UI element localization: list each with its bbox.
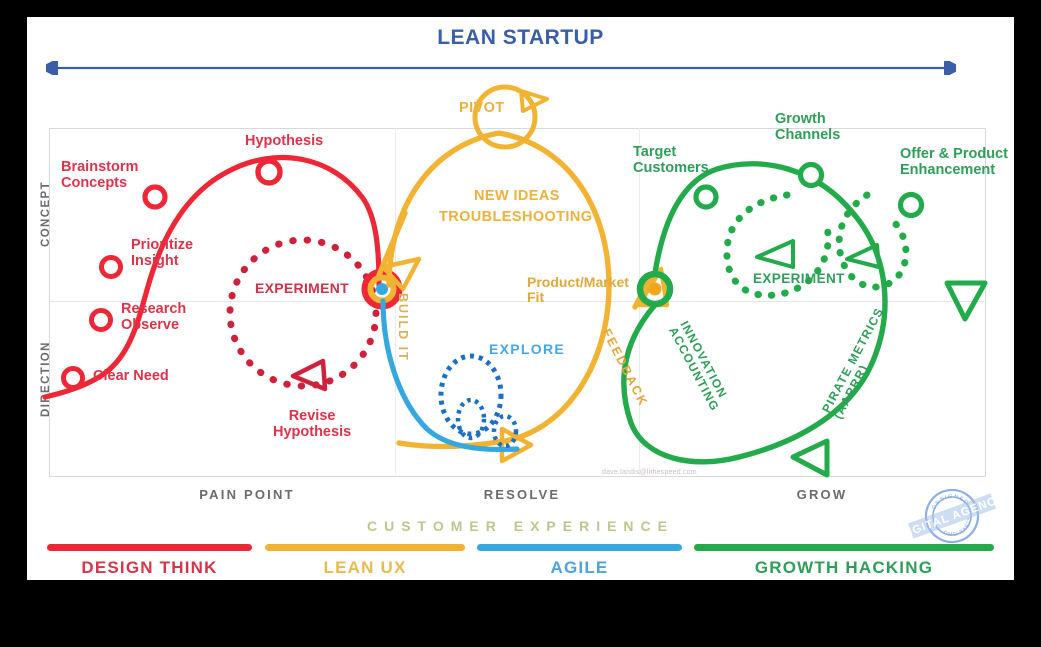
legend-label-agile: AGILE	[477, 558, 682, 578]
label-product-market-fit: Product/Market Fit	[527, 275, 629, 305]
customer-experience-label: CUSTOMER EXPERIENCE	[27, 518, 1014, 534]
phase-label-resolve: RESOLVE	[412, 487, 632, 502]
legend-label-design-think: DESIGN THINK	[47, 558, 252, 578]
diagram-canvas: LEAN STARTUP CONCEPT DIRECTION	[27, 17, 1014, 580]
digital-agency-stamp: DESIGNED BY OMD PARIS DIGITAL AGENCY	[900, 484, 1004, 548]
label-experiment-growth: EXPERIMENT	[753, 272, 845, 287]
node-label-brainstorm-concepts: Brainstorm Concepts	[61, 160, 138, 191]
image-frame: LEAN STARTUP CONCEPT DIRECTION	[0, 0, 1041, 647]
label-revise-hypothesis: Revise Hypothesis	[273, 409, 351, 440]
node-label-target-customers: Target Customers	[633, 145, 709, 176]
phase-label-grow: GROW	[712, 487, 932, 502]
label-experiment-design-think: EXPERIMENT	[255, 281, 349, 296]
legend-label-growth-hacking: GROWTH HACKING	[694, 558, 994, 578]
legend-bar-design-think	[47, 544, 252, 551]
label-troubleshooting: TROUBLESHOOTING	[439, 210, 592, 226]
label-build-it: BUILD IT	[396, 293, 410, 362]
label-new-ideas: NEW IDEAS	[474, 189, 560, 205]
growth-hacking-arc	[624, 164, 985, 475]
node-label-growth-channels: Growth Channels	[775, 112, 840, 143]
legend-bar-lean-ux	[265, 544, 465, 551]
node-label-prioritize-insight: Prioritize Insight	[131, 238, 193, 269]
node-label-clear-need: Clear Need	[93, 369, 169, 385]
label-explore: EXPLORE	[489, 342, 565, 357]
design-think-arc	[45, 157, 379, 397]
node-label-offer-product-enhancement: Offer & Product Enhancement	[900, 147, 1008, 178]
label-pivot: PIVOT	[459, 101, 505, 117]
node-label-research-observe: Research Observe	[121, 302, 186, 333]
node-label-hypothesis: Hypothesis	[245, 134, 323, 150]
legend-label-lean-ux: LEAN UX	[265, 558, 465, 578]
credit-text: dave.landis@lithespeed.com	[602, 469, 697, 476]
legend-bar-agile	[477, 544, 682, 551]
design-think-experiment-loop	[230, 240, 376, 389]
phase-label-pain-point: PAIN POINT	[137, 487, 357, 502]
